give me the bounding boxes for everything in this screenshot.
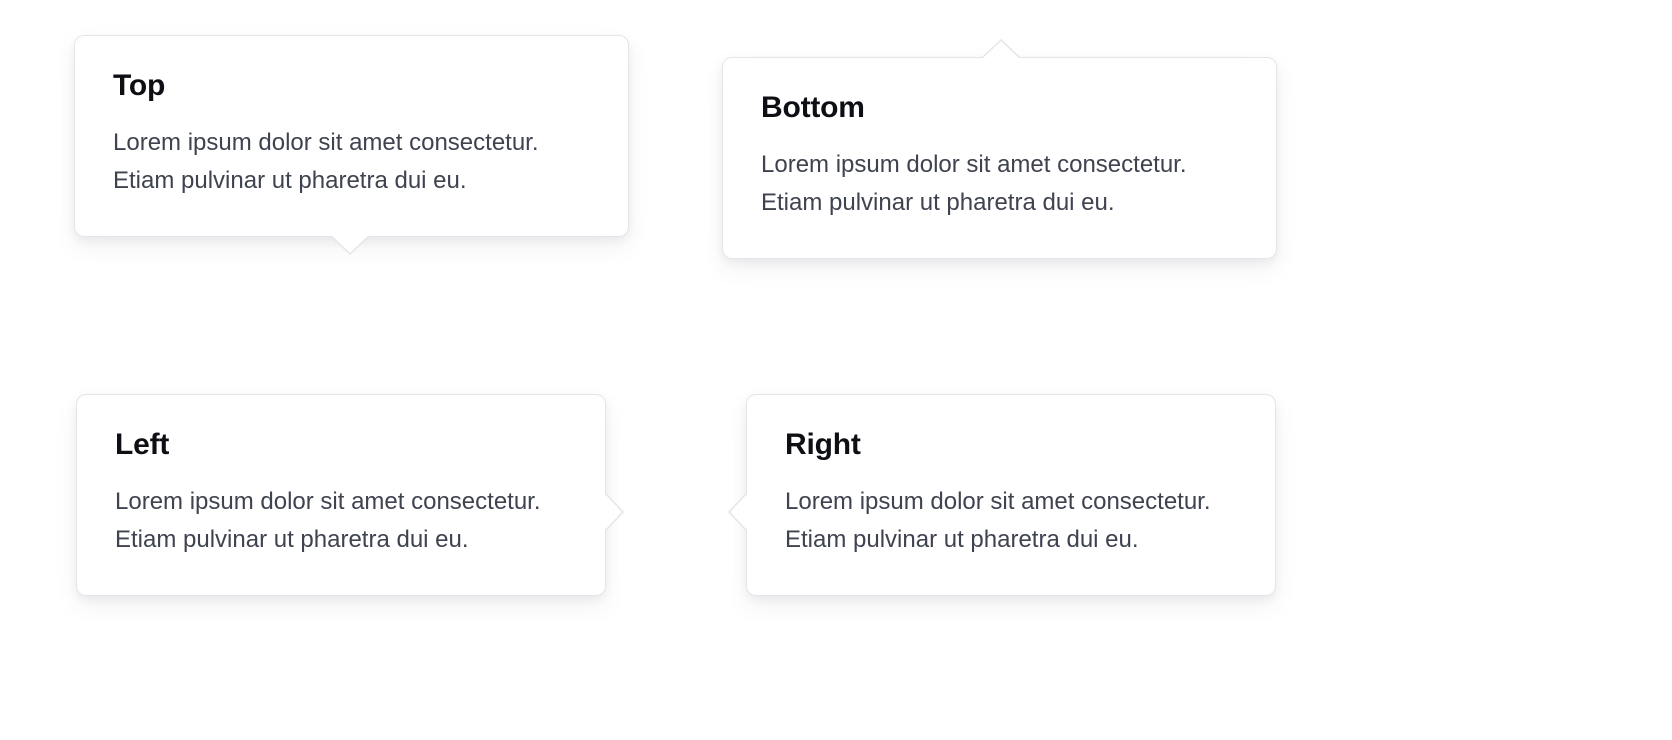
tooltip-card-top[interactable]: Top Lorem ipsum dolor sit amet consectet…: [74, 35, 629, 237]
tooltip-title: Top: [113, 70, 590, 102]
tooltip-card-bottom[interactable]: Bottom Lorem ipsum dolor sit amet consec…: [722, 57, 1277, 259]
tooltip-card-left[interactable]: Left Lorem ipsum dolor sit amet consecte…: [76, 394, 606, 596]
tooltip-card-right[interactable]: Right Lorem ipsum dolor sit amet consect…: [746, 394, 1276, 596]
tooltip-body-text: Lorem ipsum dolor sit amet consectetur. …: [113, 124, 590, 200]
tooltip-showcase-stage: Top Lorem ipsum dolor sit amet consectet…: [0, 0, 1672, 740]
tooltip-title: Bottom: [761, 92, 1238, 124]
tooltip-title: Right: [785, 429, 1237, 461]
tooltip-body-text: Lorem ipsum dolor sit amet consectetur. …: [761, 146, 1238, 222]
tooltip-title: Left: [115, 429, 567, 461]
tooltip-body-text: Lorem ipsum dolor sit amet consectetur. …: [115, 483, 567, 559]
tooltip-body-text: Lorem ipsum dolor sit amet consectetur. …: [785, 483, 1237, 559]
